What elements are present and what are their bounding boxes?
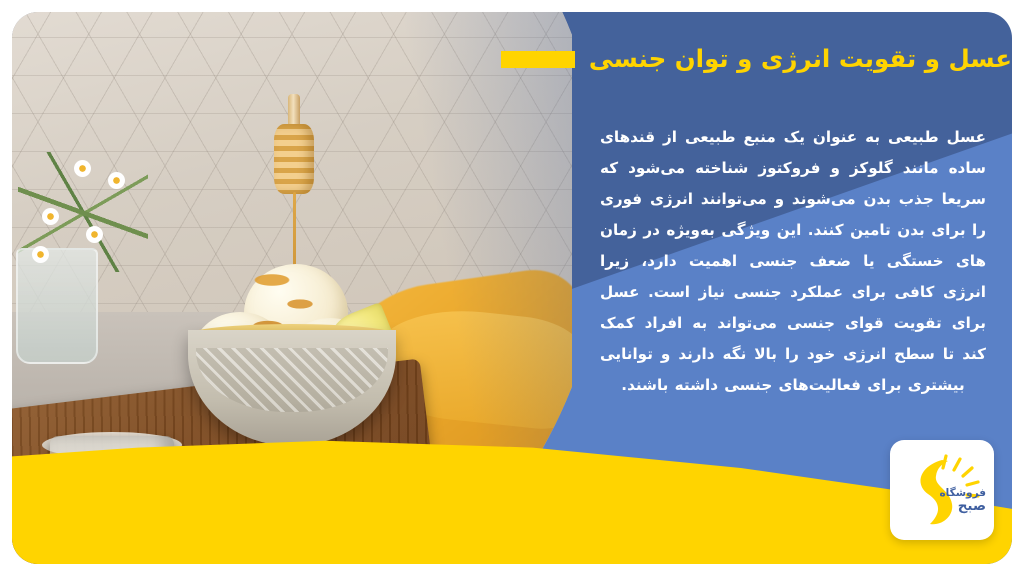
chamomile-flower xyxy=(42,208,59,225)
body-paragraph: عسل طبیعی به عنوان یک منبع طبیعی از قنده… xyxy=(600,122,986,401)
logo-line-2: صبح xyxy=(939,499,986,514)
flower-glass xyxy=(16,248,98,364)
honey-dipper-head xyxy=(274,124,314,194)
product-photo: NATURACENTRIC HONEY xyxy=(12,12,572,564)
chamomile-flower xyxy=(108,172,125,189)
title-accent-bar xyxy=(501,51,575,68)
honey-dipper-handle xyxy=(288,94,300,128)
brand-logo[interactable]: فروشگاه صبح xyxy=(890,440,994,540)
poster-canvas: NATURACENTRIC HONEY عسل و تقویت انرژی و … xyxy=(0,0,1024,576)
chamomile-flower xyxy=(32,246,49,263)
chamomile-flower xyxy=(74,160,91,177)
title-row: عسل و تقویت انرژی و توان جنسی xyxy=(572,44,1012,75)
chamomile-flower xyxy=(86,226,103,243)
honey-jar-label: NATURACENTRIC HONEY xyxy=(70,490,160,536)
content-column: عسل و تقویت انرژی و توان جنسی عسل طبیعی … xyxy=(572,12,1012,564)
photo-background: NATURACENTRIC HONEY xyxy=(12,12,572,564)
poster-card: NATURACENTRIC HONEY عسل و تقویت انرژی و … xyxy=(12,12,1012,564)
logo-wordmark: فروشگاه صبح xyxy=(939,488,986,514)
jar-product-text: HONEY xyxy=(85,509,145,524)
jar-brand-text: NATURACENTRIC xyxy=(88,502,141,508)
page-title: عسل و تقویت انرژی و توان جنسی xyxy=(589,44,1012,75)
